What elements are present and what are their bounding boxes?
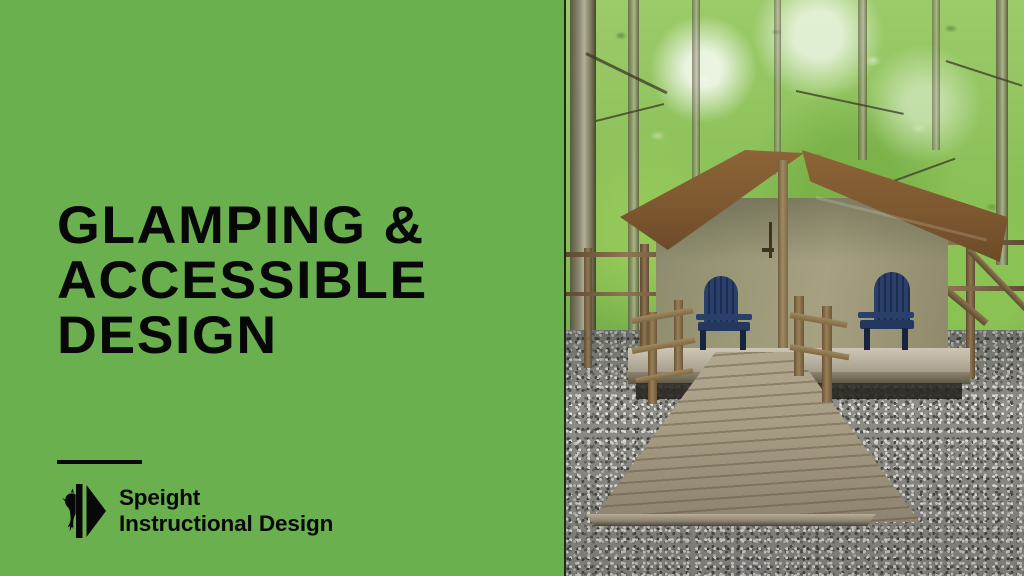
chair-leg-back xyxy=(902,328,908,350)
left-green-panel: GLAMPING & ACCESSIBLE DESIGN Speight xyxy=(0,0,564,576)
brand-logo-lockup: Speight Instructional Design xyxy=(57,460,487,540)
tent-door-zipper-pull xyxy=(769,222,772,258)
chair-leg-front xyxy=(700,330,706,350)
chair-armrest xyxy=(696,314,752,320)
title-line-1: GLAMPING & xyxy=(57,198,546,253)
divider-rule xyxy=(57,460,142,464)
tent-door-handle xyxy=(762,248,774,252)
title-slide: GLAMPING & ACCESSIBLE DESIGN Speight xyxy=(0,0,1024,576)
woodpecker-on-tree-play-mark xyxy=(57,482,107,540)
tent-center-pole xyxy=(778,160,788,360)
fence-post-left-far xyxy=(584,248,592,368)
blue-adirondack-chair-left xyxy=(694,276,756,352)
blue-adirondack-chair-right xyxy=(856,272,922,352)
ramp-rail-post-right-top xyxy=(794,296,804,376)
title-line-2: ACCESSIBLE xyxy=(57,253,546,308)
logo-wordmark: Speight Instructional Design xyxy=(119,485,333,537)
logo-name-line-2: Instructional Design xyxy=(119,511,333,537)
page-title: GLAMPING & ACCESSIBLE DESIGN xyxy=(57,198,527,363)
logo-name-line-1: Speight xyxy=(119,485,333,511)
tree-trunk-center xyxy=(774,0,781,175)
glamping-tent-photo xyxy=(564,0,1024,576)
logo-row: Speight Instructional Design xyxy=(57,482,487,540)
tree-trunk-left xyxy=(628,0,639,330)
ramp-bottom-lip xyxy=(586,514,876,526)
tree-trunk-center-right xyxy=(858,0,867,160)
chair-leg-front xyxy=(864,328,870,350)
tree-trunk-right xyxy=(932,0,940,150)
ramp-rail-post-left-mid xyxy=(648,312,657,404)
chair-leg-back xyxy=(740,330,746,350)
title-line-3: DESIGN xyxy=(57,308,546,363)
chair-armrest xyxy=(858,312,914,318)
